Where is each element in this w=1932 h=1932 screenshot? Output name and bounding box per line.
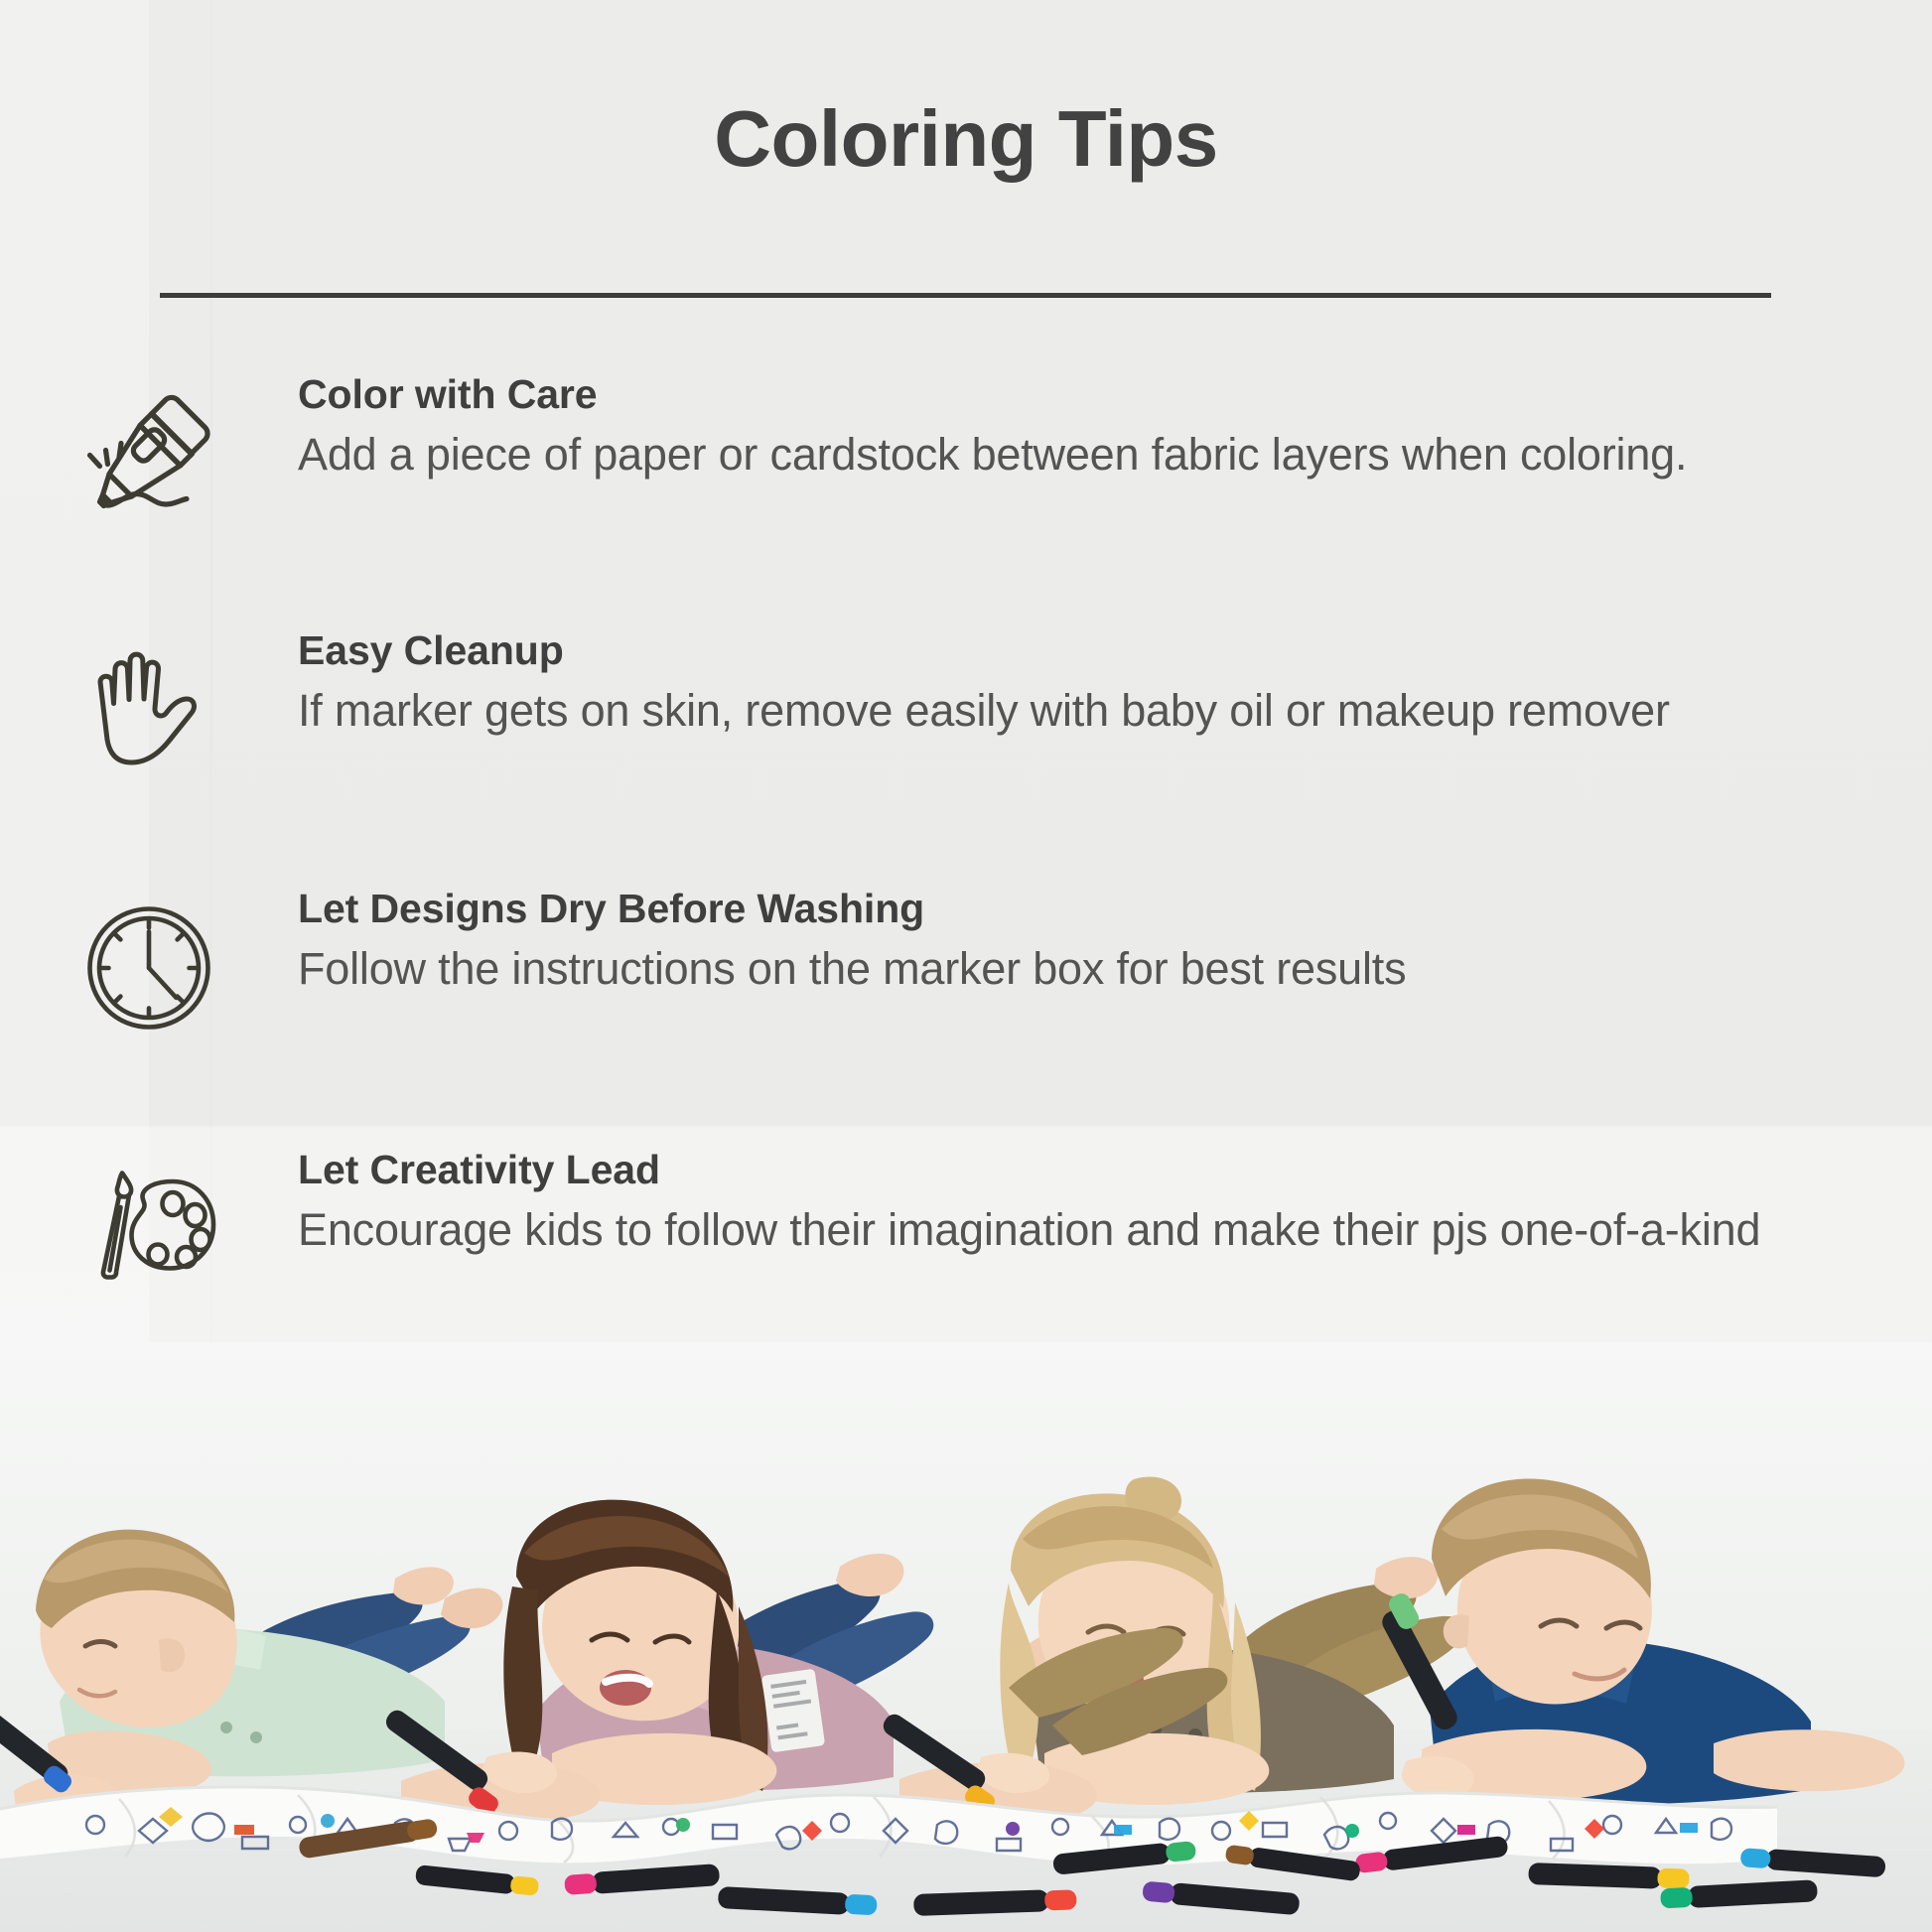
tip-body: Follow the instructions on the marker bo… (298, 940, 1763, 999)
tip-heading: Let Creativity Lead (298, 1145, 1763, 1195)
tip-body: Add a piece of paper or cardstock betwee… (298, 426, 1763, 484)
tips-list: Color with Care Add a piece of paper or … (0, 369, 1932, 1393)
tip-item-let-designs-dry: Let Designs Dry Before Washing Follow th… (0, 884, 1932, 1125)
tip-heading: Let Designs Dry Before Washing (298, 884, 1763, 934)
tip-text: Let Designs Dry Before Washing Follow th… (298, 884, 1932, 999)
clock-icon (0, 884, 298, 1031)
tip-item-easy-cleanup: Easy Cleanup If marker gets on skin, rem… (0, 625, 1932, 864)
coloring-tips-graphic: Coloring Tips (0, 0, 1932, 1932)
tip-body: Encourage kids to follow their imaginati… (298, 1201, 1763, 1260)
paint-palette-icon (0, 1145, 298, 1284)
photo-illustration (0, 1342, 1932, 1932)
open-hand-icon (0, 625, 298, 768)
tip-heading: Color with Care (298, 369, 1763, 420)
tip-body: If marker gets on skin, remove easily wi… (298, 682, 1763, 741)
tip-heading: Easy Cleanup (298, 625, 1763, 676)
tip-item-color-with-care: Color with Care Add a piece of paper or … (0, 369, 1932, 606)
title-divider (160, 293, 1771, 298)
tip-text: Let Creativity Lead Encourage kids to fo… (298, 1145, 1932, 1260)
tip-item-let-creativity-lead: Let Creativity Lead Encourage kids to fo… (0, 1145, 1932, 1373)
tip-text: Easy Cleanup If marker gets on skin, rem… (298, 625, 1932, 741)
page-title: Coloring Tips (0, 95, 1932, 183)
tip-text: Color with Care Add a piece of paper or … (298, 369, 1932, 484)
lifestyle-photo (0, 1342, 1932, 1932)
marker-pen-icon (0, 369, 298, 510)
